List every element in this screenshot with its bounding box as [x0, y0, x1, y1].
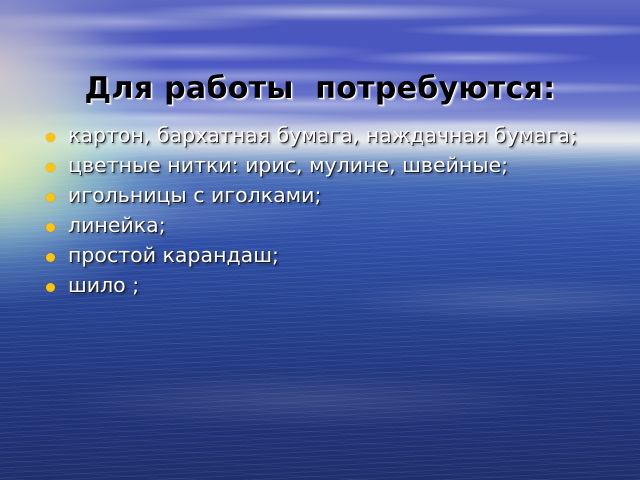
list-item-label: игольницы с иголками;	[68, 182, 600, 209]
bullet-dot-icon	[46, 193, 55, 202]
requirements-bullet-list: картон, бархатная бумага, наждачная бума…	[40, 122, 600, 302]
list-item-label: простой карандаш;	[68, 242, 600, 269]
list-item-label: линейка;	[68, 212, 600, 239]
list-item: цветные нитки: ирис, мулине, швейные;	[40, 152, 600, 179]
bullet-dot-icon	[46, 283, 55, 292]
slide-content: Для работы потребуются: картон, бархатна…	[0, 0, 640, 480]
list-item: картон, бархатная бумага, наждачная бума…	[40, 122, 600, 149]
bullet-dot-icon	[46, 163, 55, 172]
bullet-dot-icon	[46, 133, 55, 142]
list-item-label: шило ;	[68, 272, 600, 299]
list-item: простой карандаш;	[40, 242, 600, 269]
list-item: игольницы с иголками;	[40, 182, 600, 209]
list-item-label: картон, бархатная бумага, наждачная бума…	[68, 122, 600, 149]
list-item: линейка;	[40, 212, 600, 239]
slide-title: Для работы потребуются:	[0, 70, 640, 108]
list-item-label: цветные нитки: ирис, мулине, швейные;	[68, 152, 600, 179]
bullet-dot-icon	[46, 223, 55, 232]
bullet-dot-icon	[46, 253, 55, 262]
presentation-slide: Для работы потребуются: картон, бархатна…	[0, 0, 640, 480]
list-item: шило ;	[40, 272, 600, 299]
